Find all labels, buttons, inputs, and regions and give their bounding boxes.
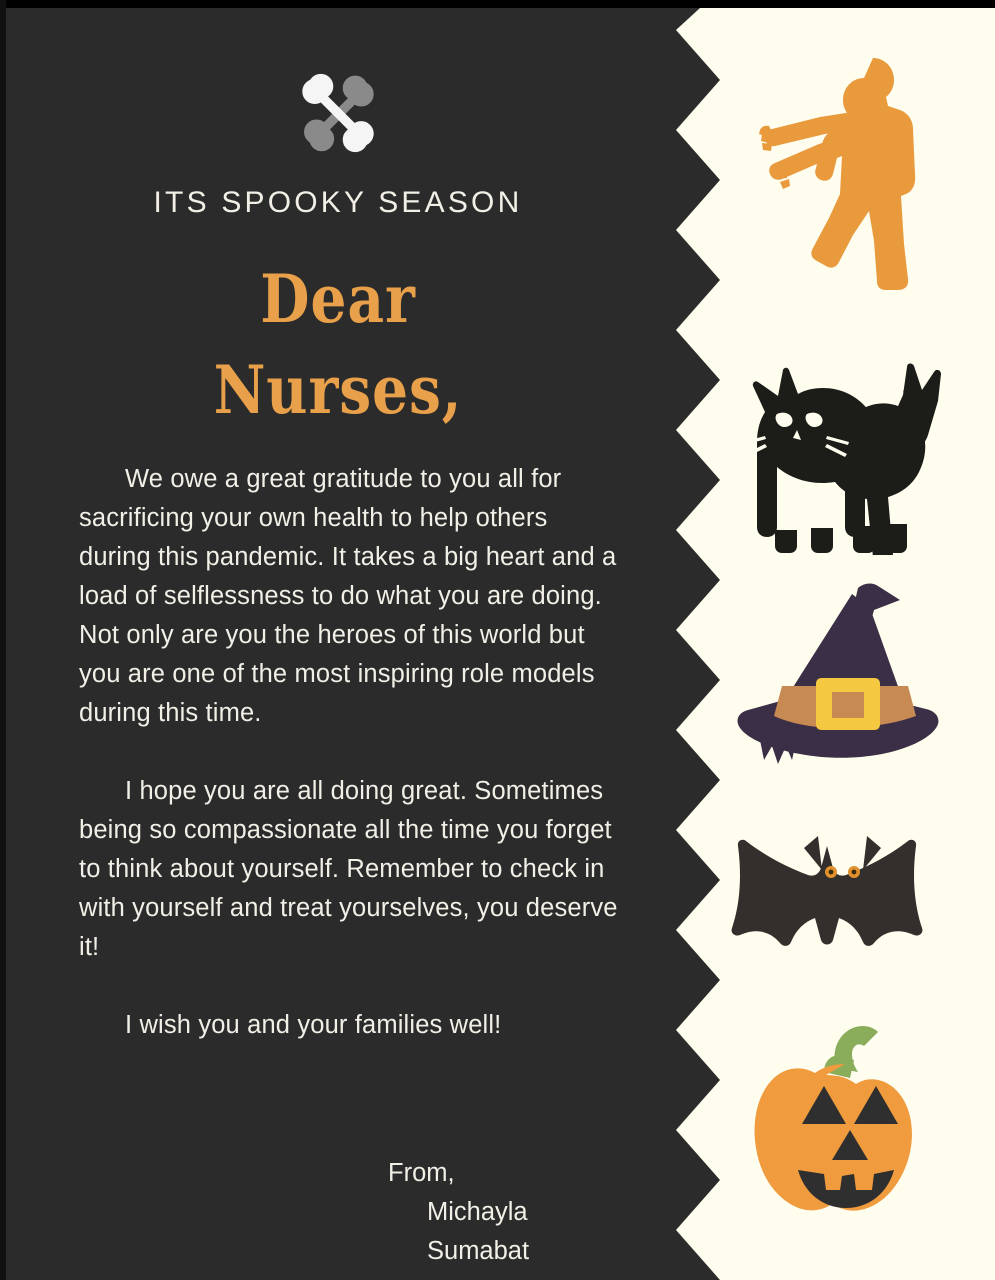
letter-paragraph-2: I hope you are all doing great. Sometime… [79, 772, 624, 967]
page-title-line-1: Dear [47, 254, 628, 345]
crossed-bones-icon [0, 70, 676, 161]
page-title-line-2: Nurses, [47, 345, 628, 436]
eyebrow-heading: ITS SPOOKY SEASON [0, 186, 676, 220]
letter-content-column: ITS SPOOKY SEASON Dear Nurses, We owe a … [0, 8, 676, 1280]
pumpkin-body [755, 1064, 912, 1211]
jack-o-lantern-icon [740, 1010, 950, 1225]
letter-body: We owe a great gratitude to you all for … [79, 460, 624, 1080]
signature-block: From, Michayla Sumabat [79, 1154, 624, 1271]
letter-paragraph-3: I wish you and your families well! [79, 1006, 624, 1045]
bat-icon [730, 830, 955, 975]
frame-top-bar [0, 0, 995, 8]
letter-paragraph-1: We owe a great gratitude to you all for … [79, 460, 624, 733]
signature-last-name: Sumabat [79, 1232, 624, 1271]
page-title: Dear Nurses, [47, 254, 628, 436]
black-cat-icon [735, 330, 950, 555]
frame-left-bar [0, 0, 6, 1280]
signature-first-name: Michayla [79, 1193, 624, 1232]
zombie-icon [745, 48, 945, 298]
halloween-thank-you-poster: ITS SPOOKY SEASON Dear Nurses, We owe a … [0, 0, 995, 1280]
signature-closing: From, [79, 1154, 624, 1193]
witch-hat-icon [730, 580, 960, 770]
